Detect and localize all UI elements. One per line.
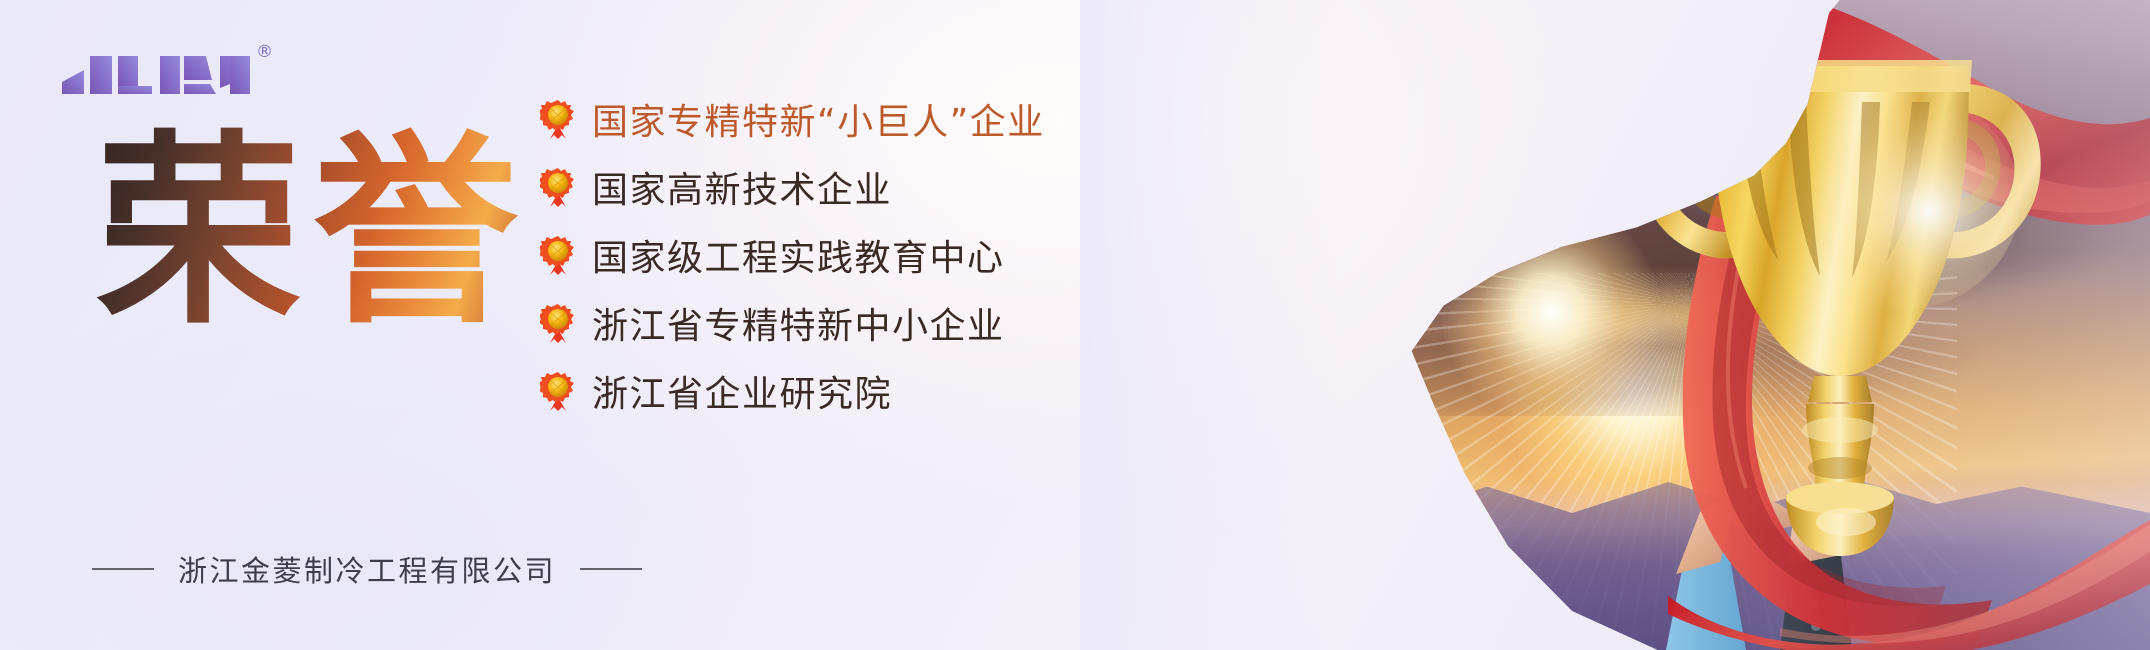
honor-label: 国家高新技术企业 [592, 161, 892, 213]
medal-rosette-icon [540, 371, 576, 411]
honor-label: 浙江省专精特新中小企业 [592, 297, 1005, 349]
gold-trophy-icon [1600, 10, 2080, 570]
registered-trademark-icon: ® [256, 44, 273, 61]
list-item: 浙江省企业研究院 [540, 360, 1180, 421]
company-name: 浙江金菱制冷工程有限公司 [178, 548, 556, 590]
rule-left [92, 568, 154, 570]
list-item: 国家级工程实践教育中心 [540, 224, 1180, 285]
medal-rosette-icon [540, 167, 576, 207]
trophy-artwork [1080, 0, 2150, 650]
jlrt-logo-icon [60, 38, 260, 94]
rule-right [580, 568, 642, 570]
honor-banner: ® 荣誉 浙江金菱制冷工程有限公司 [0, 0, 2150, 650]
medal-rosette-icon [540, 235, 576, 275]
honor-label: 浙江省企业研究院 [592, 365, 892, 417]
honor-label: 国家级工程实践教育中心 [592, 229, 1005, 281]
honor-list: 国家专精特新“小巨人”企业 国家高新技术企业 [540, 88, 1180, 428]
list-item: 国家专精特新“小巨人”企业 [540, 88, 1180, 149]
list-item: 浙江省专精特新中小企业 [540, 292, 1180, 353]
medal-rosette-icon [540, 303, 576, 343]
page-title: 荣誉 [96, 108, 566, 358]
medal-rosette-icon [540, 99, 576, 139]
honor-label: 国家专精特新“小巨人”企业 [592, 93, 1045, 145]
list-item: 国家高新技术企业 [540, 156, 1180, 217]
company-signature: 浙江金菱制冷工程有限公司 [92, 548, 642, 590]
company-logo[interactable]: ® [60, 38, 300, 98]
